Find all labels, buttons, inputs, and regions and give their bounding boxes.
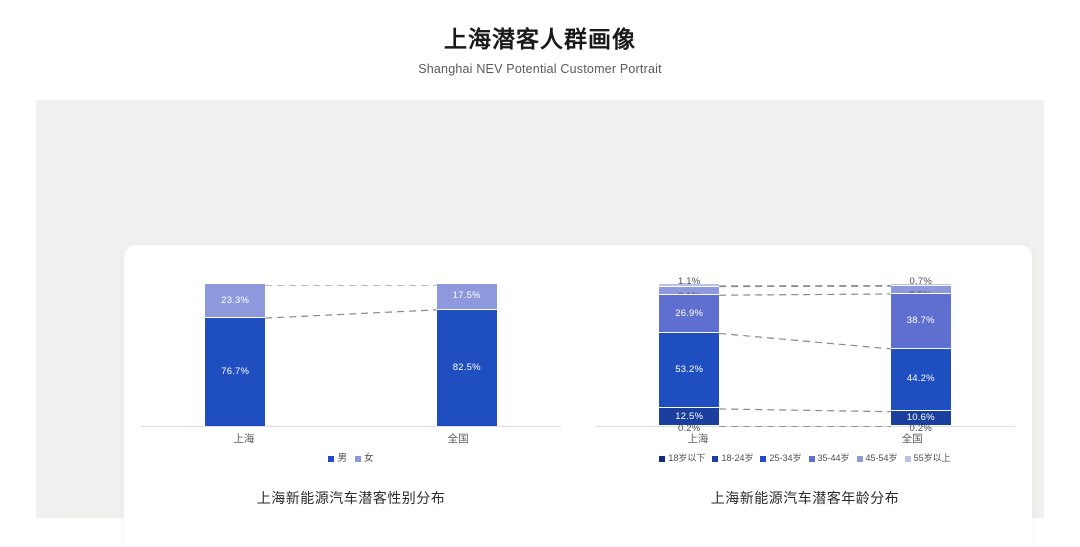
legend-item[interactable]: 女 [355,453,374,464]
legend-swatch-icon [857,456,863,462]
bar-segment-value: 17.5% [453,291,481,301]
x-axis-tick-label: 全国 [448,431,469,446]
bar-segment[interactable]: 82.5% [437,309,497,426]
age-chart-plot-area: 1.1%6.1%26.9%53.2%12.5%0.2%0.7%5.5%38.7%… [578,285,1032,427]
legend-item[interactable]: 18-24岁 [712,453,753,464]
legend-item[interactable]: 35-44岁 [809,453,850,464]
bar-segment-value: 38.7% [907,316,935,326]
stacked-column[interactable]: 17.5%82.5% [437,284,497,426]
legend-swatch-icon [659,456,665,462]
gender-chart: 23.3%76.7%17.5%82.5%上海全国男女上海新能源汽车潜客性别分布 [124,245,578,547]
legend-item[interactable]: 45-54岁 [857,453,898,464]
stacked-column[interactable]: 1.1%6.1%26.9%53.2%12.5%0.2% [659,284,719,426]
bar-segment-value: 23.3% [221,296,249,306]
legend-label: 35-44岁 [818,453,850,464]
legend-label: 55岁以上 [914,453,951,464]
legend-label: 男 [337,453,347,464]
bar-segment-value: 76.7% [221,367,249,377]
legend-item[interactable]: 18岁以下 [659,453,705,464]
x-axis-tick-label: 上海 [233,431,254,446]
legend-swatch-icon [712,456,718,462]
connector-lines [578,285,1032,427]
bar-segment[interactable]: 26.9% [659,294,719,332]
x-axis-line [595,426,1015,427]
age-chart: 1.1%6.1%26.9%53.2%12.5%0.2%0.7%5.5%38.7%… [578,245,1032,547]
gender-chart-legend: 男女 [124,453,578,464]
bar-segment[interactable]: 38.7% [891,293,951,348]
charts-card: 23.3%76.7%17.5%82.5%上海全国男女上海新能源汽车潜客性别分布1… [124,245,1032,547]
x-axis-tick-labels: 上海全国 [595,431,1015,447]
legend-label: 25-34岁 [769,453,801,464]
page-root: 上海潜客人群画像 Shanghai NEV Potential Customer… [0,0,1080,547]
bar-segment-value: 82.5% [453,363,481,373]
gender-chart-plot-area: 23.3%76.7%17.5%82.5% [124,285,578,427]
legend-label: 18-24岁 [721,453,753,464]
stacked-column[interactable]: 23.3%76.7% [205,284,265,426]
bar-segment[interactable]: 23.3% [205,284,265,317]
legend-swatch-icon [355,456,361,462]
bar-segment[interactable]: 53.2% [659,332,719,407]
page-header: 上海潜客人群画像 Shanghai NEV Potential Customer… [0,24,1080,77]
stacked-column[interactable]: 0.7%5.5%38.7%44.2%10.6%0.2% [891,284,951,426]
x-axis-line [141,426,561,427]
page-title: 上海潜客人群画像 [0,24,1080,54]
bar-segment[interactable]: 76.7% [205,317,265,426]
bar-segment[interactable]: 44.2% [891,348,951,411]
legend-swatch-icon [328,456,334,462]
bar-segment-value: 12.5% [675,412,703,422]
bar-segment-value: 53.2% [675,365,703,375]
charts-row: 23.3%76.7%17.5%82.5%上海全国男女上海新能源汽车潜客性别分布1… [124,245,1032,547]
bar-segment[interactable]: 17.5% [437,284,497,309]
legend-swatch-icon [760,456,766,462]
legend-label: 女 [364,453,374,464]
bar-segment[interactable]: 6.1% [659,286,719,295]
content-panel: 23.3%76.7%17.5%82.5%上海全国男女上海新能源汽车潜客性别分布1… [36,100,1044,518]
x-axis-tick-label: 全国 [902,431,923,446]
x-axis-tick-label: 上海 [687,431,708,446]
legend-swatch-icon [809,456,815,462]
legend-item[interactable]: 55岁以上 [905,453,951,464]
bar-segment-value: 10.6% [907,413,935,423]
bar-segment[interactable]: 5.5% [891,285,951,293]
bar-segment-value: 26.9% [675,309,703,319]
legend-item[interactable]: 25-34岁 [760,453,801,464]
bar-segment[interactable]: 0.2% [891,425,951,426]
page-subtitle: Shanghai NEV Potential Customer Portrait [0,61,1080,77]
legend-label: 18岁以下 [668,453,705,464]
age-chart-legend: 18岁以下18-24岁25-34岁35-44岁45-54岁55岁以上 [578,453,1032,464]
connector-lines [124,285,578,427]
bar-segment-value: 44.2% [907,374,935,384]
age-chart-caption: 上海新能源汽车潜客年龄分布 [578,488,1032,508]
gender-chart-caption: 上海新能源汽车潜客性别分布 [124,488,578,508]
legend-label: 45-54岁 [866,453,898,464]
legend-item[interactable]: 男 [328,453,347,464]
x-axis-tick-labels: 上海全国 [141,431,561,447]
bar-segment[interactable]: 0.2% [659,425,719,426]
legend-swatch-icon [905,456,911,462]
